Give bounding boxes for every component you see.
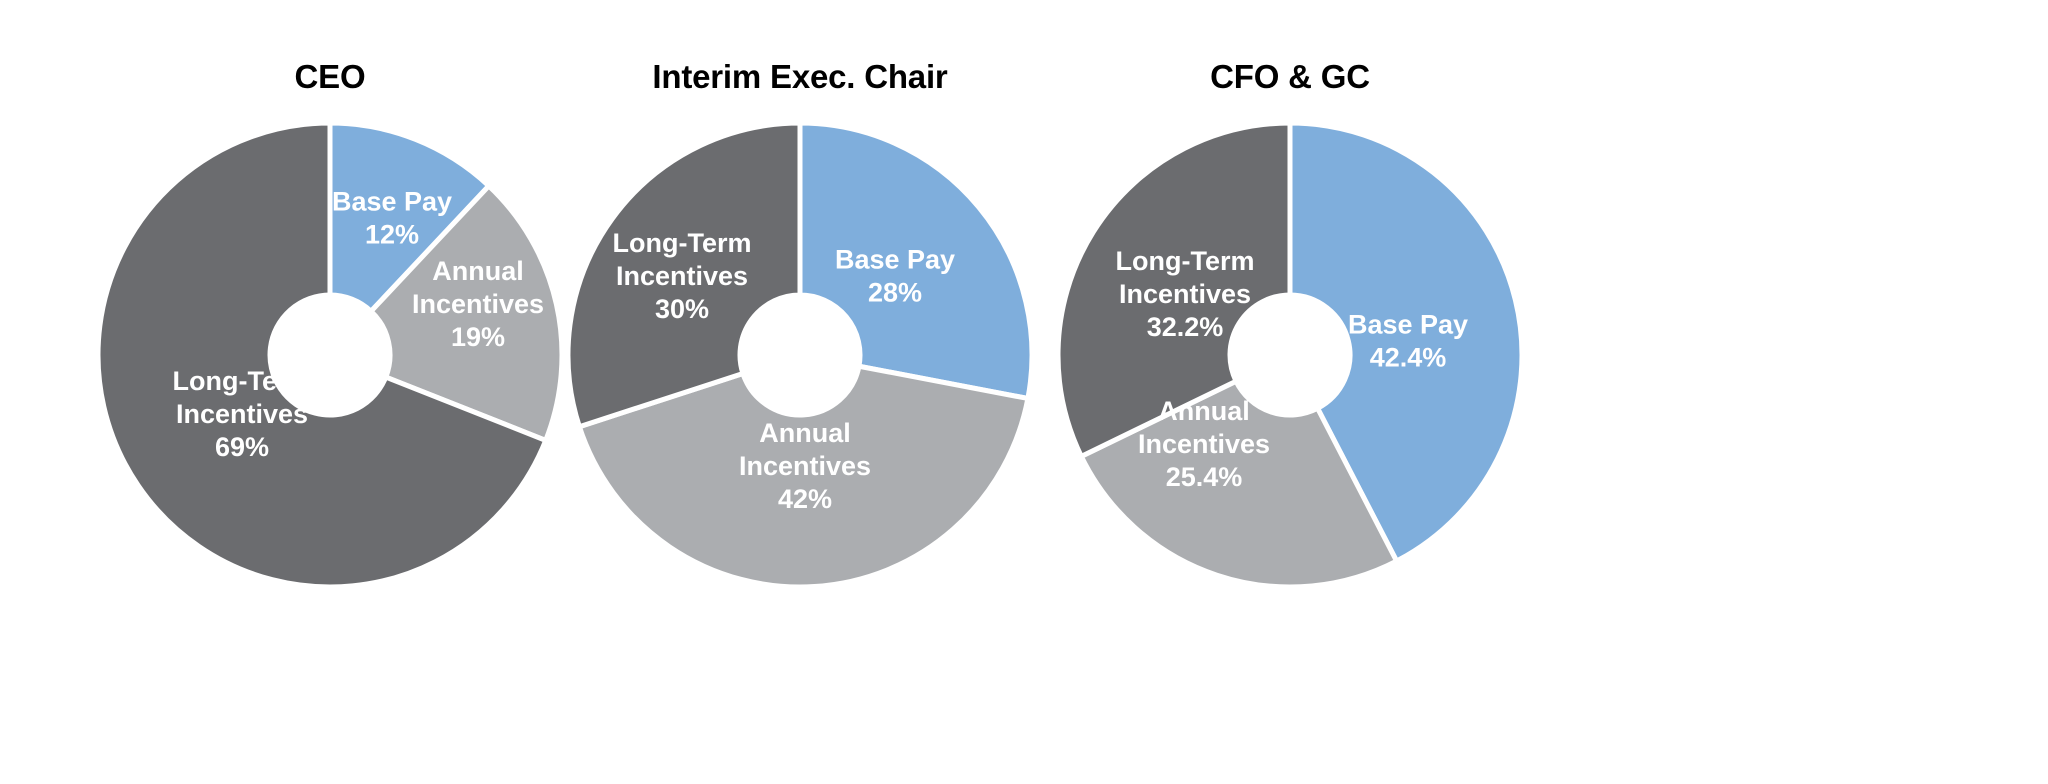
- slice-value-label: 25.4%: [1166, 462, 1243, 492]
- slice-name-label: Annual: [759, 418, 851, 448]
- slice-name-label: Base Pay: [332, 187, 452, 217]
- slice-name-label: Long-Term: [173, 366, 312, 396]
- slice-value-label: 69%: [215, 432, 269, 462]
- slice-value-label: 42.4%: [1370, 343, 1447, 373]
- slice-value-label: 42%: [778, 484, 832, 514]
- slice-name-label: Incentives: [1119, 279, 1251, 309]
- chart-panel-cfo-gc: CFO & GC Base Pay42.4%AnnualIncentives25…: [960, 0, 1620, 784]
- compensation-mix-figure: CEO Base Pay12%AnnualIncentives19%Long-T…: [0, 0, 2048, 784]
- slice-value-label: 28%: [868, 278, 922, 308]
- donut-chart-cfo-gc: Base Pay42.4%AnnualIncentives25.4%Long-T…: [960, 110, 1620, 610]
- slice-name-label: Base Pay: [1348, 310, 1468, 340]
- slice-name-label: Incentives: [616, 261, 748, 291]
- slice-name-label: Base Pay: [835, 245, 955, 275]
- slice-name-label: Incentives: [739, 451, 871, 481]
- slice-name-label: Incentives: [176, 399, 308, 429]
- slice-value-label: 32.2%: [1147, 312, 1224, 342]
- slice-name-label: Incentives: [1138, 429, 1270, 459]
- slice-name-label: Long-Term: [613, 228, 752, 258]
- chart-title-cfo-gc: CFO & GC: [960, 58, 1620, 96]
- slice-value-label: 30%: [655, 294, 709, 324]
- slice-name-label: Long-Term: [1116, 246, 1255, 276]
- donut-svg-cfo-gc: Base Pay42.4%AnnualIncentives25.4%Long-T…: [960, 110, 1620, 610]
- slice-value-label: 12%: [365, 220, 419, 250]
- slice-name-label: Annual: [1158, 396, 1250, 426]
